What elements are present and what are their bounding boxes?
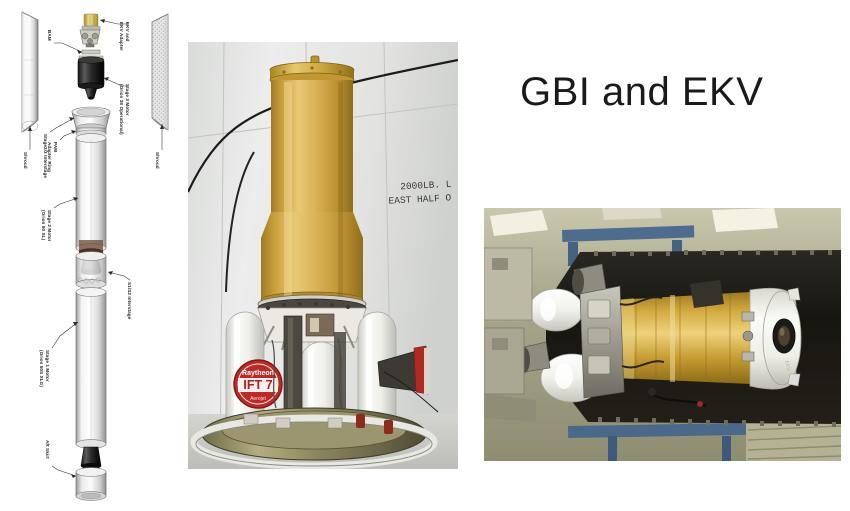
bam-graphic: [82, 50, 100, 54]
photo-center-svg: 2000LB. L EAST HALF O: [188, 42, 458, 469]
callout-stage1-motor-l1: Stage 1 Motor: [44, 350, 50, 387]
callout-shroud-left: Shroud: [22, 152, 28, 169]
callout-stage3-motor: Stage 3 Motor (Orion 38 Operational): [119, 84, 130, 135]
gbi-third-stage-ekv-photo: 2000LB. L EAST HALF O: [188, 42, 458, 469]
nose-clamp-fittings: [742, 312, 754, 361]
decal-program-text: IFT 7: [243, 378, 272, 392]
callout-s1s2-interstage: S1/S2 Interstage: [126, 282, 132, 319]
cable-connector: [697, 401, 703, 407]
gold-canister: [261, 56, 363, 308]
callout-shroud-right: Shroud: [154, 152, 160, 169]
floor-grating: [746, 422, 841, 461]
gbi-exploded-diagram: EKV and EKV Adapter BAM Stage 3 Motor (O…: [0, 0, 182, 511]
base-turntable: [194, 408, 434, 466]
callout-stage2-motor-l2: (Orion 50 XL): [41, 210, 47, 242]
callout-ekv-adapter: EKV and EKV Adapter: [119, 22, 130, 51]
callout-stage1-motor: Stage 1 Motor (Orion 50S XLG): [39, 350, 50, 387]
s1s2-interstage-graphic: [76, 252, 106, 289]
callout-pam-adapter-ring-l2: Adapter Ring: [47, 142, 53, 172]
photo-right-svg: EKV: [484, 208, 841, 461]
stage1-motor-graphic: [76, 288, 106, 469]
shroud-half-right-graphic: [152, 14, 168, 130]
page-title: GBI and EKV: [520, 70, 820, 114]
callout-stage1-motor-l2: (Orion 50S XLG): [39, 350, 45, 387]
callout-ekv-adapter-l1: EKV and: [124, 22, 130, 51]
callout-stage3-motor-l2: (Orion 38 Operational): [119, 84, 125, 135]
ekv-nose-shroud: EKV: [750, 288, 801, 389]
ekv-adapter-graphic: [80, 30, 100, 47]
ekv-graphic: [82, 14, 100, 30]
shadowed-equipment: [690, 280, 724, 308]
aft-skirt-graphic: [76, 468, 106, 501]
gbi-exploded-svg: [0, 0, 182, 511]
callout-aft-skirt: Aft Skirt: [44, 440, 50, 459]
slide-root: GBI and EKV: [0, 0, 850, 511]
svg-text:Aerojet: Aerojet: [250, 396, 266, 402]
callout-stage2-motor-l1: Stage 2 Motor: [46, 210, 52, 242]
callout-stage3-motor-l1: Stage 3 Motor: [124, 84, 130, 135]
stage3-motor-graphic: [78, 56, 104, 100]
callout-stage2-motor: Stage 2 Motor (Orion 50 XL): [41, 210, 52, 242]
decal-brand-text: Raytheon: [242, 370, 274, 377]
callout-bam: BAM: [46, 30, 52, 41]
shroud-half-left-graphic: [22, 12, 38, 132]
callout-pam-adapter-ring: PAM Adapter Ring: [47, 142, 58, 172]
ekv-gold-body: [608, 292, 750, 384]
callout-ekv-adapter-l2: EKV Adapter: [119, 22, 125, 51]
callout-pam-adapter-ring-l1: PAM: [52, 142, 58, 172]
ekv-horizontal-photo: EKV: [484, 208, 841, 461]
